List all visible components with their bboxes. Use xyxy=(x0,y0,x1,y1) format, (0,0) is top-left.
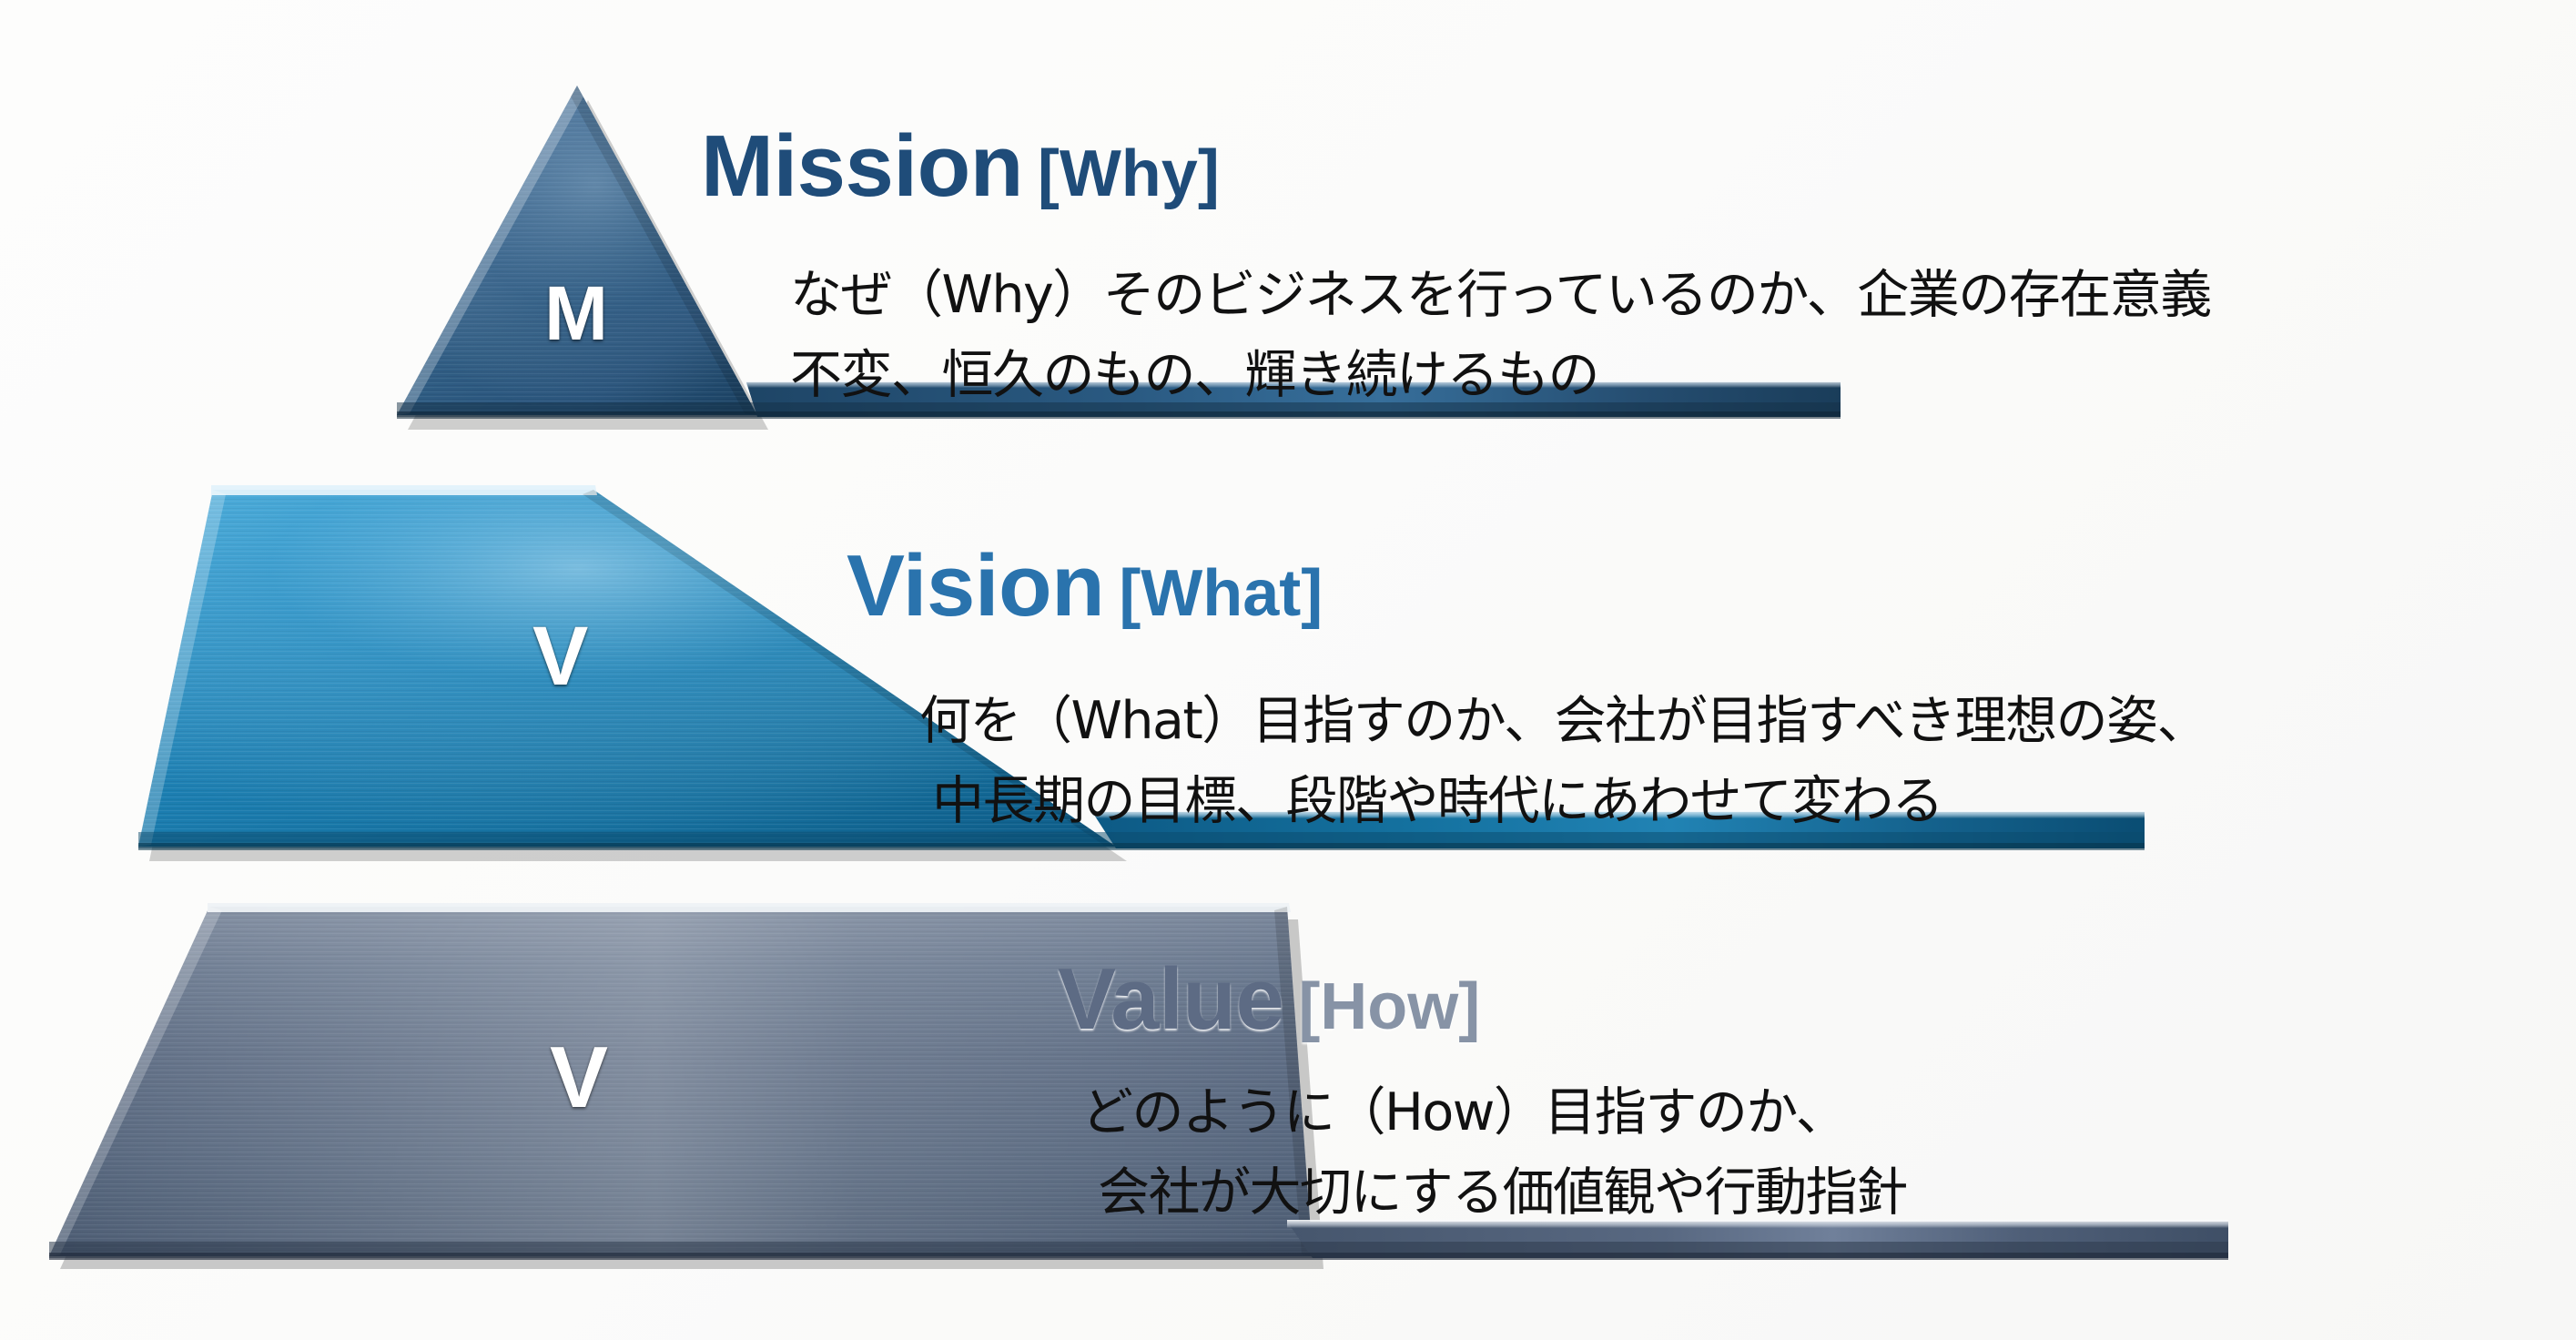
value-description: どのように（How）目指すのか、 会社が大切にする価値観や行動指針 xyxy=(1081,1072,1907,1233)
vision-description-line-2: 中長期の目標、段階や時代にあわせて変わる xyxy=(932,761,2207,841)
vision-title-main: Vision xyxy=(847,537,1104,634)
mission-title-main: Mission xyxy=(701,117,1023,215)
value-title-tag: [How] xyxy=(1298,970,1480,1043)
mission-initial: M xyxy=(544,275,608,351)
value-initial: V xyxy=(550,1034,608,1122)
vision-title-tag: [What] xyxy=(1119,557,1323,630)
vision-description: 何を（What）目指すのか、会社が目指すべき理想の姿、 中長期の目標、段階や時代… xyxy=(919,681,2207,842)
mission-title: Mission[Why] xyxy=(701,123,1220,210)
mission-description-line-2: 不変、恒久のもの、輝き続けるもの xyxy=(790,335,2211,415)
value-description-line-2: 会社が大切にする価値観や行動指針 xyxy=(1098,1152,1907,1233)
mission-description-line-1: なぜ（Why）そのビジネスを行っているのか、企業の存在意義 xyxy=(790,255,2211,335)
vision-description-line-1: 何を（What）目指すのか、会社が目指すべき理想の姿、 xyxy=(919,681,2207,761)
mission-title-tag: [Why] xyxy=(1038,137,1220,210)
value-title-main: Value xyxy=(1058,950,1283,1048)
pyramid-diagram: V Value[How] どのように（How）目指すのか、 会社が大切にする価値… xyxy=(0,0,2576,1340)
vision-initial: V xyxy=(532,614,588,698)
mission-description: なぜ（Why）そのビジネスを行っているのか、企業の存在意義 不変、恒久のもの、輝… xyxy=(790,255,2211,416)
value-title: Value[How] xyxy=(1058,956,1480,1043)
value-description-line-1: どのように（How）目指すのか、 xyxy=(1081,1072,1907,1152)
vision-title: Vision[What] xyxy=(847,543,1323,630)
